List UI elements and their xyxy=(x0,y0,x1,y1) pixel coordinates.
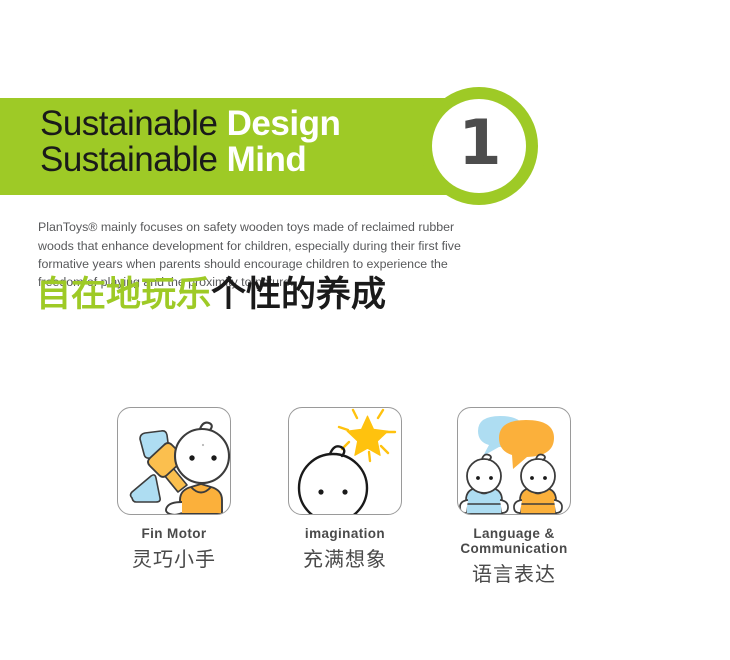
banner-heading: Sustainable Design Sustainable Mind xyxy=(40,106,340,177)
language-title-line-1: Language & xyxy=(473,526,554,541)
banner-heading-line-1: Sustainable Design xyxy=(40,106,340,142)
feature-card-language-communication[interactable]: Language & Communication 语言表达 xyxy=(424,407,604,586)
fin-motor-card-frame xyxy=(117,407,231,515)
two-children-with-speech-bubbles-icon xyxy=(458,408,570,514)
banner-line2-bold: Mind xyxy=(227,140,307,179)
language-title: Language & Communication xyxy=(424,526,604,556)
fin-motor-title: Fin Motor xyxy=(84,526,264,541)
banner-line2-plain: Sustainable xyxy=(40,140,217,179)
language-subtitle: 语言表达 xyxy=(424,562,604,586)
child-head-with-star-icon xyxy=(289,408,401,514)
fin-motor-subtitle: 灵巧小手 xyxy=(84,547,264,571)
language-title-line-2: Communication xyxy=(460,541,567,556)
banner-line1-plain: Sustainable xyxy=(40,104,217,143)
language-card-frame xyxy=(457,407,571,515)
step-number: 1 xyxy=(458,112,501,174)
child-with-hammer-and-blocks-icon xyxy=(118,408,230,514)
banner-heading-line-2: Sustainable Mind xyxy=(40,142,340,178)
chinese-headline-green: 自在地玩乐 xyxy=(36,275,211,315)
banner-line1-bold: Design xyxy=(227,104,341,143)
chinese-headline: 自在地玩乐个性的养成 xyxy=(36,278,386,313)
imagination-title: imagination xyxy=(255,526,435,541)
feature-card-fin-motor[interactable]: Fin Motor 灵巧小手 xyxy=(84,407,264,571)
imagination-subtitle: 充满想象 xyxy=(255,547,435,571)
chinese-headline-dark: 个性的养成 xyxy=(211,275,386,315)
step-number-circle: 1 xyxy=(432,99,526,193)
imagination-card-frame xyxy=(288,407,402,515)
feature-card-imagination[interactable]: imagination 充满想象 xyxy=(255,407,435,571)
